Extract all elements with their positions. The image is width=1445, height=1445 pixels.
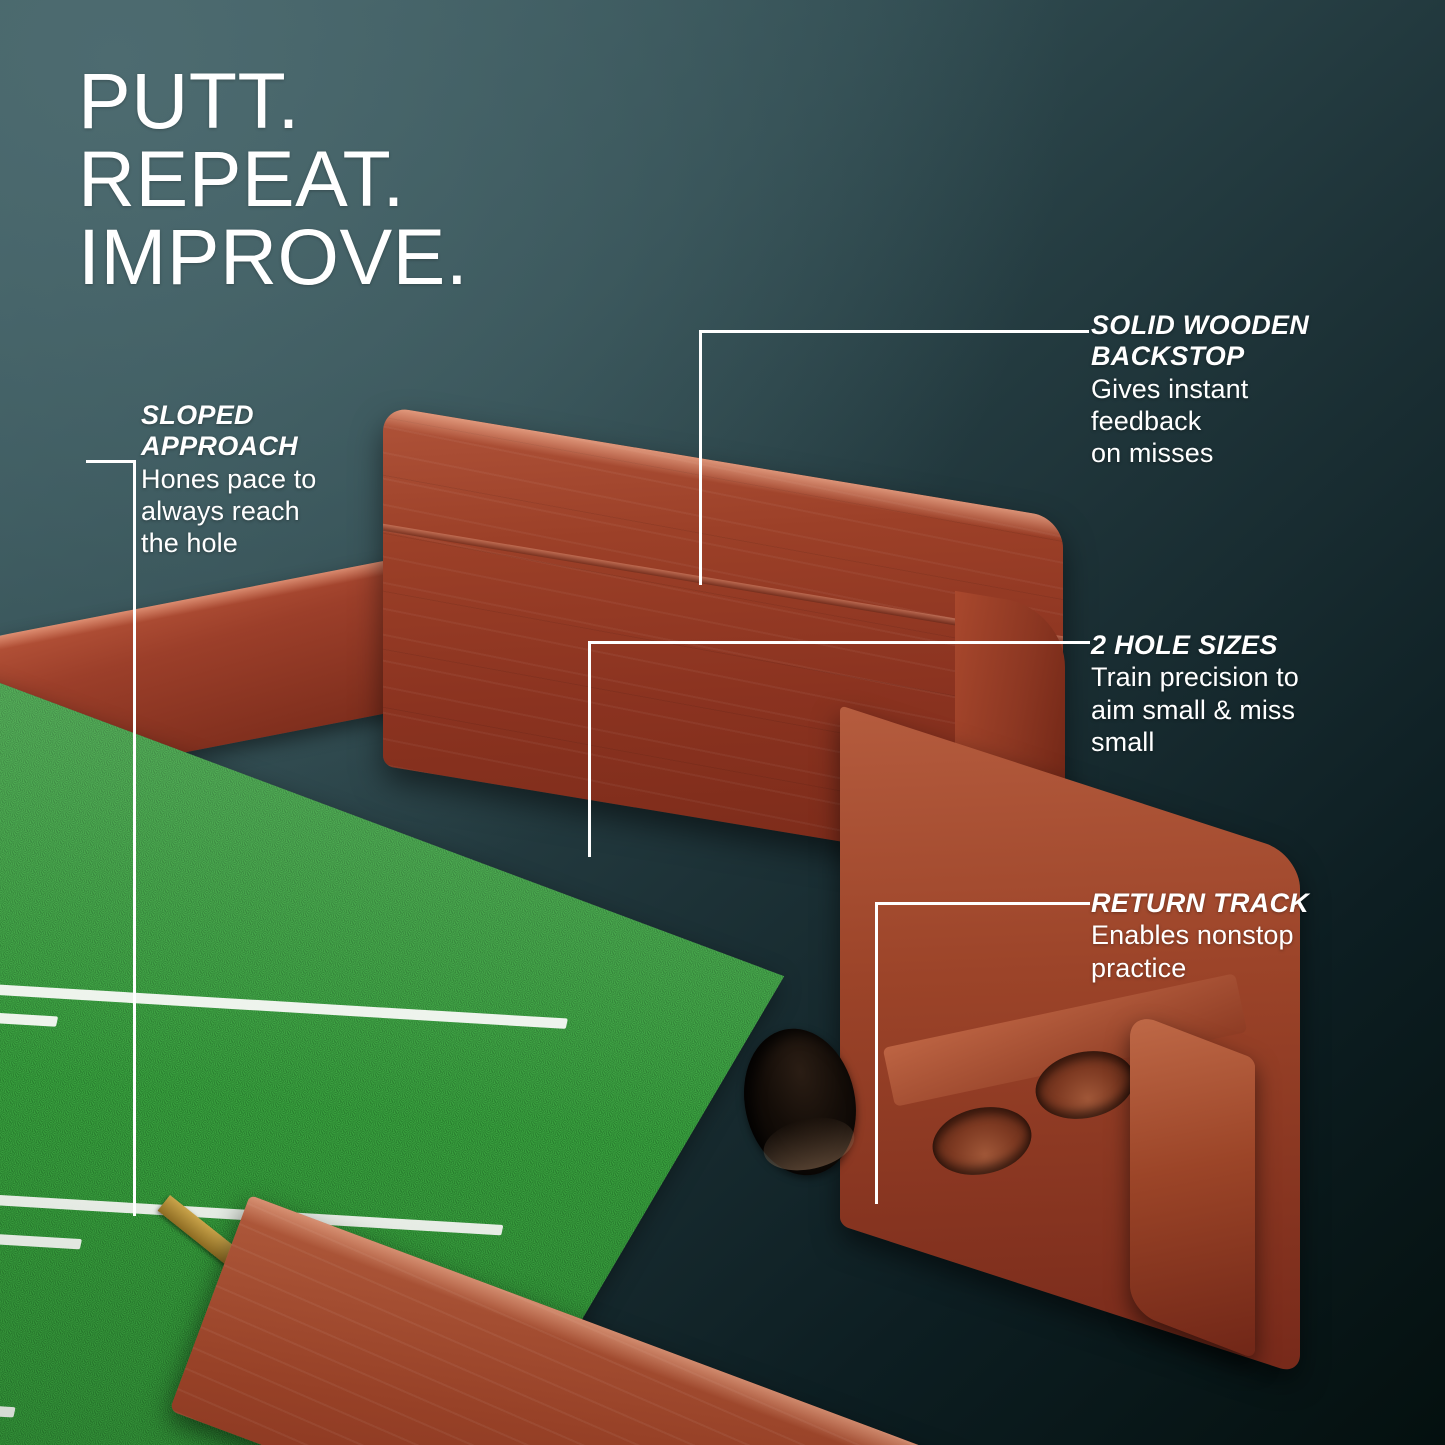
callout-title: SOLID WOODEN BACKSTOP [1091, 310, 1391, 373]
leader-line-hole-sizes-horizontal [588, 641, 1090, 644]
callout-solid-wooden-backstop: SOLID WOODEN BACKSTOP Gives instant feed… [1091, 310, 1391, 470]
callout-title: RETURN TRACK [1091, 888, 1391, 919]
leader-line-backstop-vertical [699, 330, 702, 585]
callout-body: Hones pace to always reach the hole [141, 463, 391, 560]
leader-line-hole-sizes-vertical [588, 641, 591, 857]
page-title: PUTT. REPEAT. IMPROVE. [78, 62, 468, 297]
leader-line-sloped-approach-horizontal [86, 460, 136, 463]
leader-line-sloped-approach-vertical [133, 460, 136, 1216]
callout-title: 2 HOLE SIZES [1091, 630, 1401, 661]
callout-title: SLOPED APPROACH [141, 400, 391, 463]
callout-sloped-approach: SLOPED APPROACH Hones pace to always rea… [141, 400, 391, 560]
callout-two-hole-sizes: 2 HOLE SIZES Train precision to aim smal… [1091, 630, 1401, 758]
rail-end-cap [1130, 1011, 1255, 1359]
callout-return-track: RETURN TRACK Enables nonstop practice [1091, 888, 1391, 984]
callout-body: Enables nonstop practice [1091, 919, 1391, 984]
leader-line-return-track-horizontal [875, 902, 1090, 905]
callout-body: Gives instant feedback on misses [1091, 373, 1391, 470]
leader-line-return-track-vertical [875, 902, 878, 1204]
callout-body: Train precision to aim small & miss smal… [1091, 661, 1401, 758]
product-infographic: PUTT. REPEAT. IMPROVE. SLOPED APPROACH H… [0, 0, 1445, 1445]
leader-line-backstop-horizontal [699, 330, 1089, 333]
